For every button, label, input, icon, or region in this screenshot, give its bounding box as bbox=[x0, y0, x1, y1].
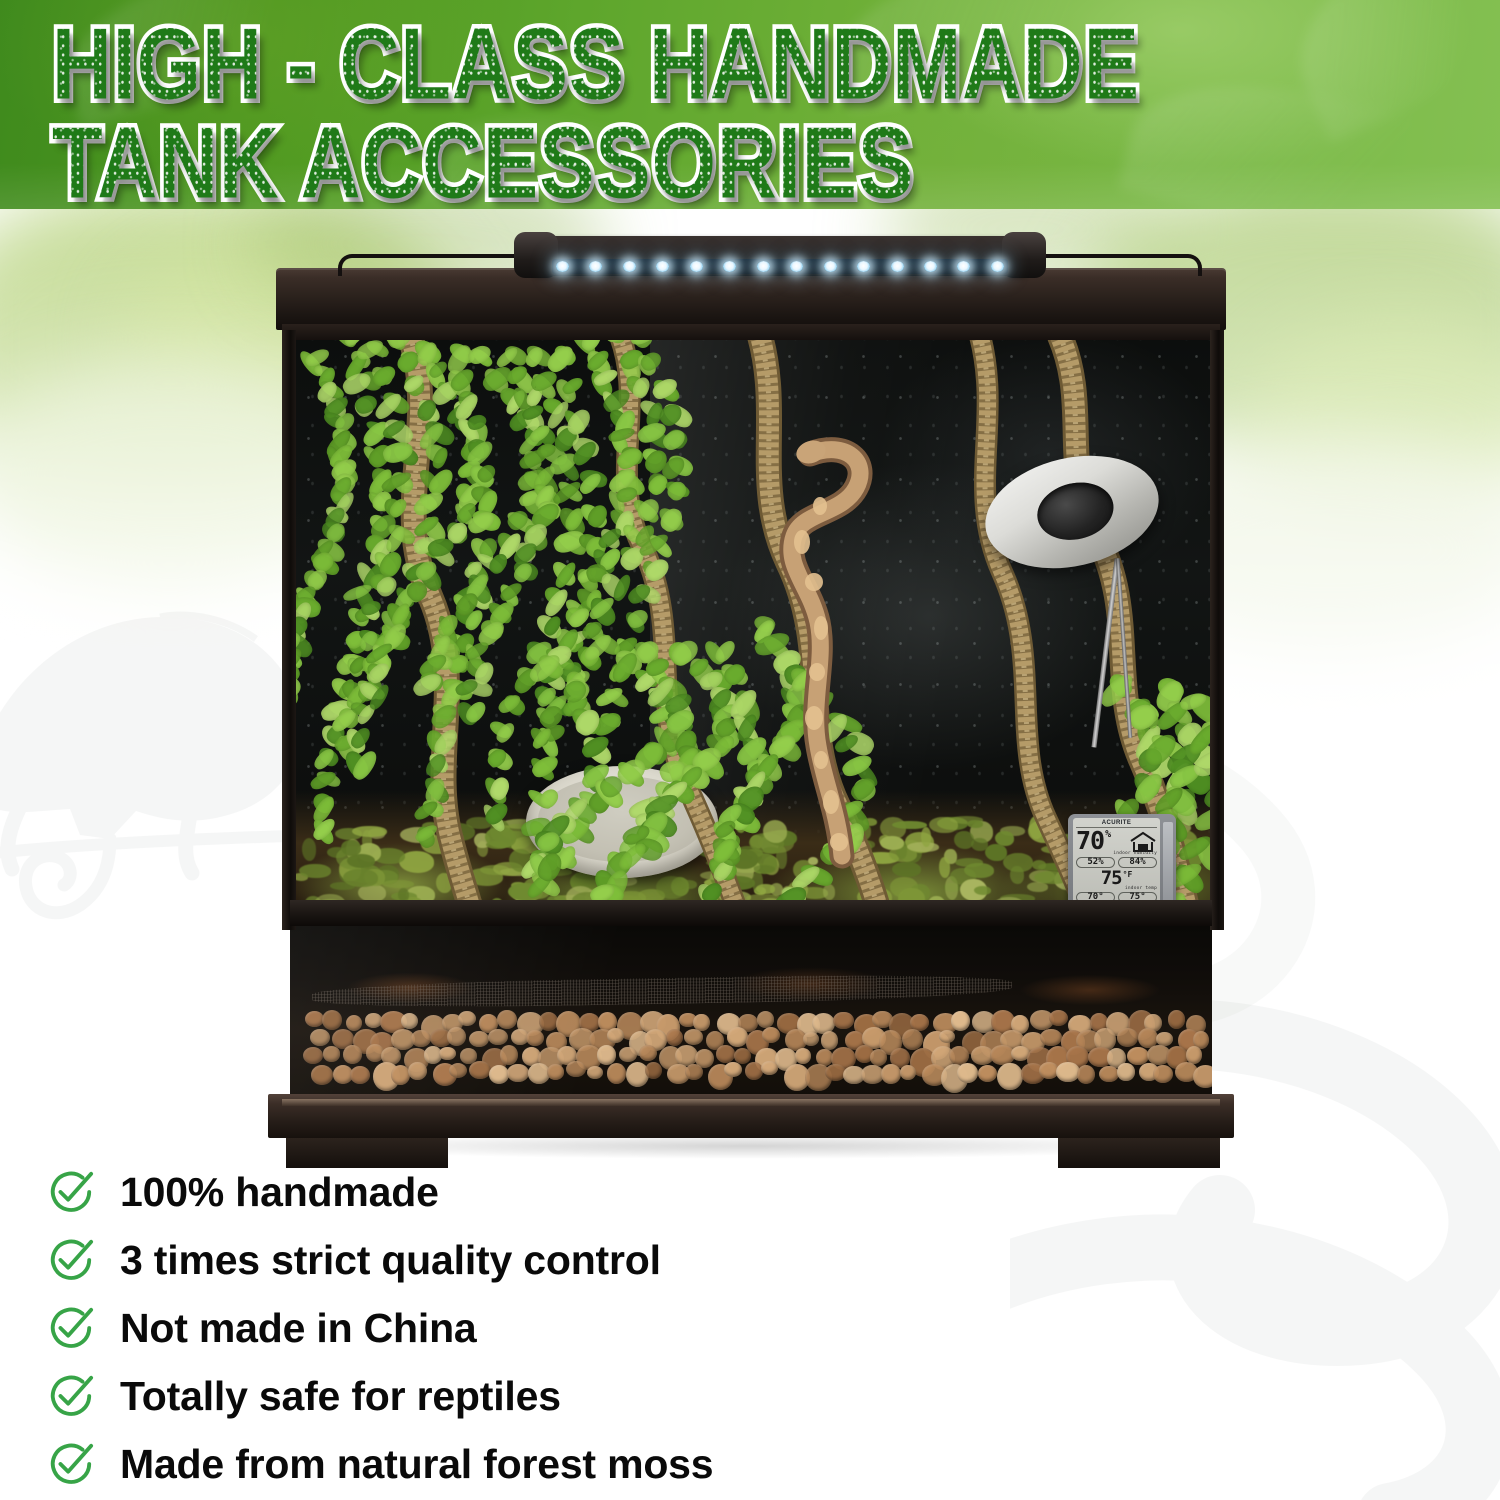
feature-item: Made from natural forest moss bbox=[48, 1430, 1048, 1498]
feature-label: Totally safe for reptiles bbox=[120, 1373, 561, 1420]
hood-lip bbox=[282, 324, 1220, 340]
base-foot bbox=[286, 1138, 448, 1168]
feature-label: Made from natural forest moss bbox=[120, 1441, 713, 1488]
check-circle-icon bbox=[48, 1441, 94, 1487]
feature-label: Not made in China bbox=[120, 1305, 477, 1352]
page-title: HIGH - CLASS HANDMADE TANK ACCESSORIES bbox=[52, 14, 1303, 209]
feature-item: Totally safe for reptiles bbox=[48, 1362, 1048, 1430]
house-icon bbox=[1129, 831, 1157, 853]
led-bulb bbox=[957, 261, 970, 272]
led-light-bar bbox=[530, 236, 1030, 276]
led-bulb bbox=[790, 261, 803, 272]
led-bulb bbox=[991, 261, 1004, 272]
glass-viewing-panel: ACURITE 70 % indoor bbox=[290, 336, 1212, 922]
temperature-value: 75 bbox=[1101, 870, 1122, 887]
check-circle-icon bbox=[48, 1237, 94, 1283]
product-photo: ACURITE 70 % indoor bbox=[258, 228, 1248, 1153]
led-bulb bbox=[857, 261, 870, 272]
led-bulb bbox=[589, 261, 602, 272]
led-bulb bbox=[656, 261, 669, 272]
product-infographic: HIGH - CLASS HANDMADE TANK ACCESSORIES H… bbox=[0, 0, 1500, 1500]
frame-post-right bbox=[1210, 330, 1224, 930]
led-bulb bbox=[723, 261, 736, 272]
led-strip bbox=[552, 259, 1008, 274]
drainage-compartment bbox=[290, 926, 1212, 1098]
feature-list: 100% handmade3 times strict quality cont… bbox=[48, 1158, 1048, 1498]
temperature-unit: °F bbox=[1123, 870, 1133, 879]
feature-label: 100% handmade bbox=[120, 1169, 439, 1216]
led-bulb bbox=[757, 261, 770, 272]
humidity-value: 70 bbox=[1076, 829, 1104, 852]
feature-label: 3 times strict quality control bbox=[120, 1237, 661, 1284]
front-rail bbox=[290, 900, 1212, 926]
check-circle-icon bbox=[48, 1169, 94, 1215]
feature-item: 100% handmade bbox=[48, 1158, 1048, 1226]
humidity-high: 84% bbox=[1118, 857, 1157, 868]
header-banner: HIGH - CLASS HANDMADE TANK ACCESSORIES H… bbox=[0, 0, 1500, 209]
frame-post-left bbox=[282, 330, 296, 930]
terrarium-base bbox=[268, 1094, 1234, 1138]
led-bulb bbox=[824, 261, 837, 272]
feature-item: 3 times strict quality control bbox=[48, 1226, 1048, 1294]
led-bulb bbox=[891, 261, 904, 272]
hygrometer-buttons[interactable] bbox=[1163, 822, 1173, 910]
terrarium-hood bbox=[276, 268, 1226, 330]
led-bulb bbox=[924, 261, 937, 272]
base-foot bbox=[1058, 1138, 1220, 1168]
led-bulb bbox=[556, 261, 569, 272]
humidity-unit: % bbox=[1105, 829, 1111, 840]
led-bulb bbox=[623, 261, 636, 272]
feature-item: Not made in China bbox=[48, 1294, 1048, 1362]
led-bulb bbox=[690, 261, 703, 272]
power-cord bbox=[1032, 254, 1202, 276]
check-circle-icon bbox=[48, 1373, 94, 1419]
check-circle-icon bbox=[48, 1305, 94, 1351]
